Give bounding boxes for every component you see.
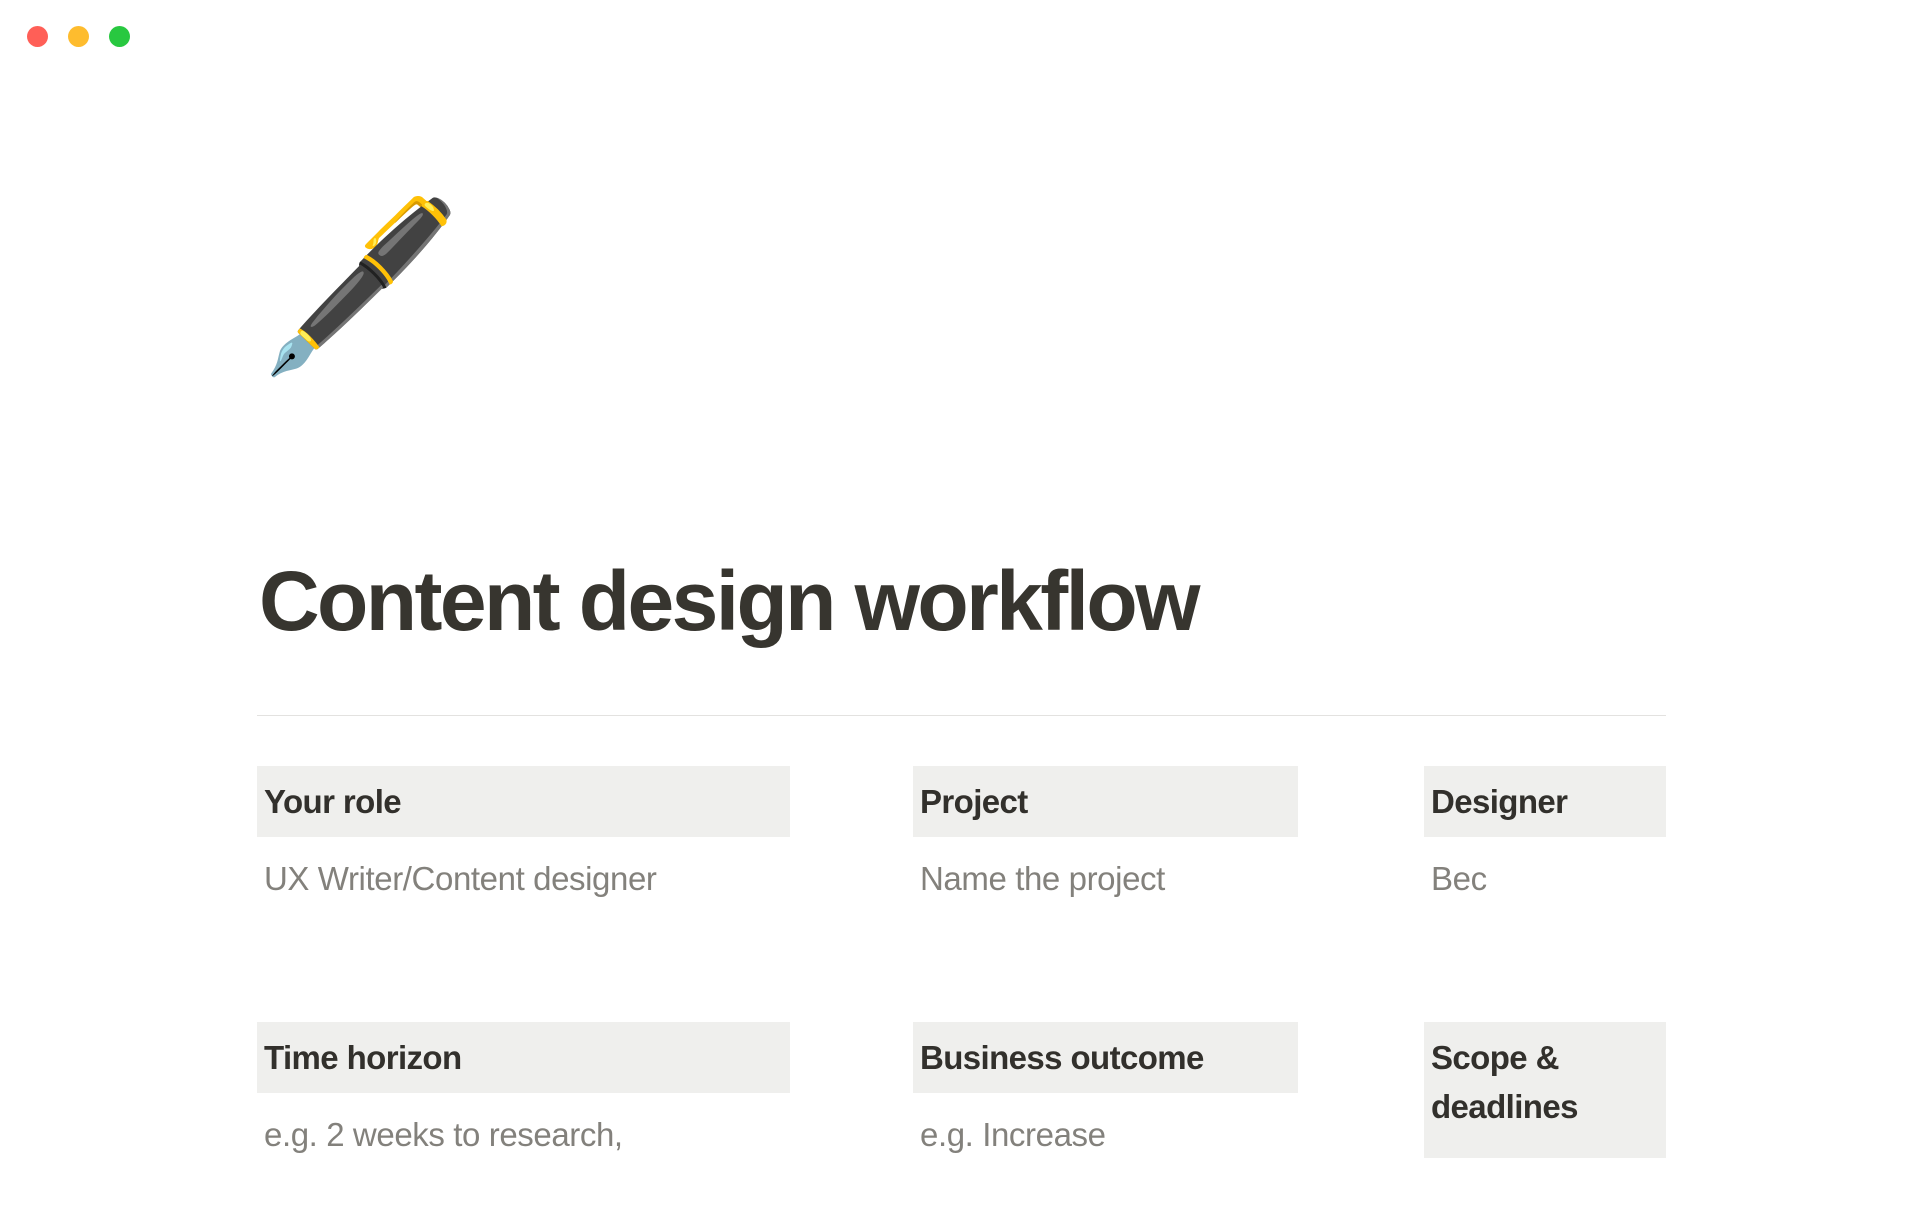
property-value-project[interactable]: Name the project	[913, 837, 1298, 901]
property-label-time-horizon: Time horizon	[257, 1022, 790, 1093]
property-field-your-role: Your role UX Writer/Content designer	[257, 766, 790, 901]
property-label-designer: Designer	[1424, 766, 1666, 837]
property-field-scope-deadlines: Scope & deadlines	[1424, 1022, 1666, 1178]
property-field-project: Project Name the project	[913, 766, 1298, 901]
property-field-time-horizon: Time horizon e.g. 2 weeks to research,	[257, 1022, 790, 1157]
property-row: Time horizon e.g. 2 weeks to research, B…	[0, 1022, 1920, 1222]
title-divider	[257, 715, 1666, 716]
document-body: 🖋️ Content design workflow Your role UX …	[0, 0, 1920, 1200]
property-grid: Your role UX Writer/Content designer Pro…	[0, 766, 1920, 1222]
property-label-project: Project	[913, 766, 1298, 837]
property-value-your-role[interactable]: UX Writer/Content designer	[257, 837, 790, 901]
property-value-scope-deadlines[interactable]	[1424, 1158, 1666, 1178]
property-field-business-outcome: Business outcome e.g. Increase	[913, 1022, 1298, 1157]
property-label-business-outcome: Business outcome	[913, 1022, 1298, 1093]
property-field-designer: Designer Bec	[1424, 766, 1666, 901]
property-value-time-horizon[interactable]: e.g. 2 weeks to research,	[257, 1093, 790, 1157]
property-value-business-outcome[interactable]: e.g. Increase	[913, 1093, 1298, 1157]
page-title[interactable]: Content design workflow	[259, 553, 1679, 649]
property-label-scope-deadlines: Scope & deadlines	[1424, 1022, 1666, 1158]
property-label-your-role: Your role	[257, 766, 790, 837]
property-value-designer[interactable]: Bec	[1424, 837, 1666, 901]
fountain-pen-emoji-icon[interactable]: 🖋️	[258, 186, 458, 386]
property-row: Your role UX Writer/Content designer Pro…	[0, 766, 1920, 1022]
